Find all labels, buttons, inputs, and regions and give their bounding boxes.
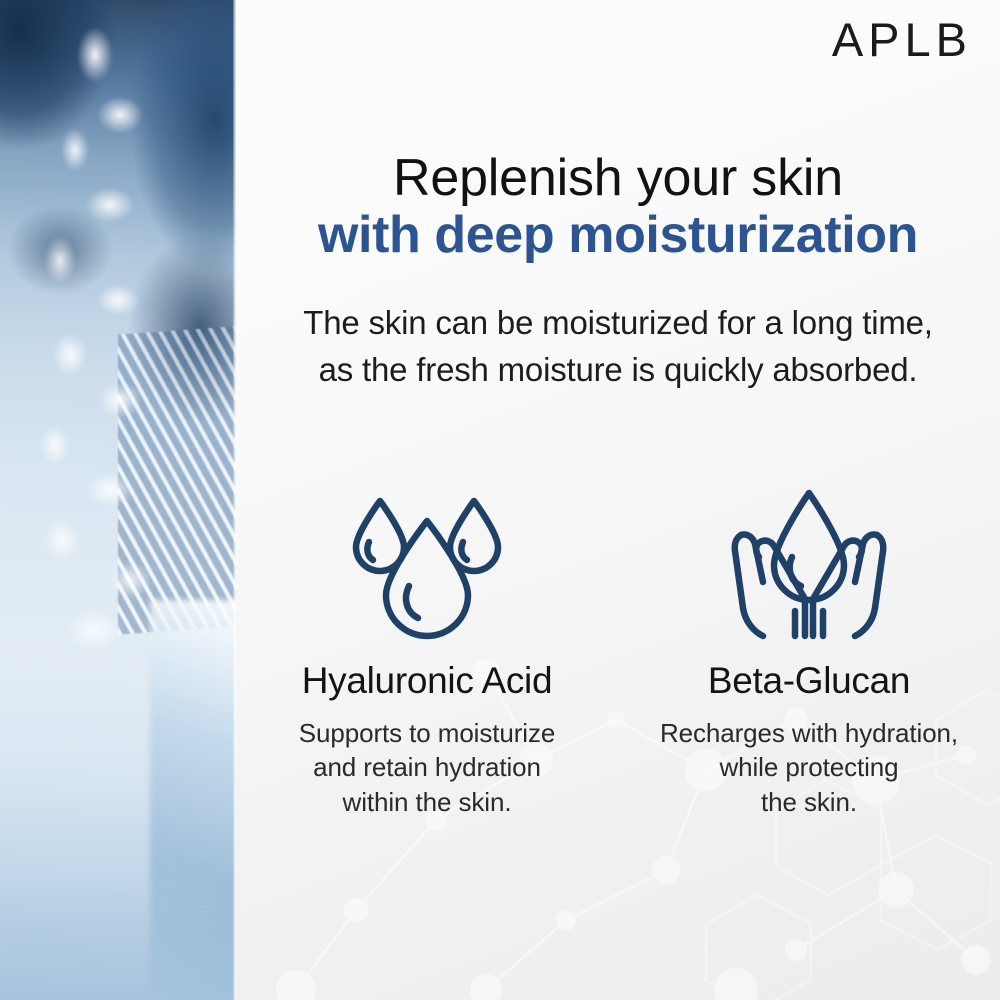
headline-line-2: with deep moisturization	[236, 206, 1000, 264]
feature-title: Beta-Glucan	[708, 661, 910, 702]
water-splash-photo	[0, 0, 236, 1000]
headline-line-1: Replenish your skin	[236, 150, 1000, 206]
feature-list: Hyaluronic Acid Supports to moisturize a…	[236, 480, 1000, 819]
feature-description: Recharges with hydration, while protecti…	[660, 716, 958, 820]
content-panel: APLB Replenish your skin with deep moist…	[236, 0, 1000, 1000]
water-foam-bubbles	[0, 0, 236, 680]
feature-desc-line-2: while protecting	[660, 750, 958, 785]
subcopy-line-2: as the fresh moisture is quickly absorbe…	[236, 347, 1000, 394]
subcopy-line-1: The skin can be moisturized for a long t…	[236, 300, 1000, 347]
subcopy: The skin can be moisturized for a long t…	[236, 300, 1000, 394]
water-drops-icon	[347, 480, 507, 645]
feature-desc-line-3: the skin.	[660, 785, 958, 820]
feature-title: Hyaluronic Acid	[302, 661, 553, 702]
feature-item-beta-glucan: Beta-Glucan Recharges with hydration, wh…	[618, 480, 1000, 819]
feature-desc-line-1: Recharges with hydration,	[660, 716, 958, 751]
feature-desc-line-3: within the skin.	[299, 785, 555, 820]
feature-item-hyaluronic-acid: Hyaluronic Acid Supports to moisturize a…	[236, 480, 618, 819]
feature-description: Supports to moisturize and retain hydrat…	[299, 716, 555, 820]
hands-holding-drop-icon	[729, 480, 889, 645]
water-bokeh-blur	[0, 600, 236, 1000]
page-title: Replenish your skin with deep moisturiza…	[236, 150, 1000, 264]
brand-logo: APLB	[832, 16, 972, 63]
feature-desc-line-2: and retain hydration	[299, 750, 555, 785]
feature-desc-line-1: Supports to moisturize	[299, 716, 555, 751]
product-detail-banner: APLB Replenish your skin with deep moist…	[0, 0, 1000, 1000]
